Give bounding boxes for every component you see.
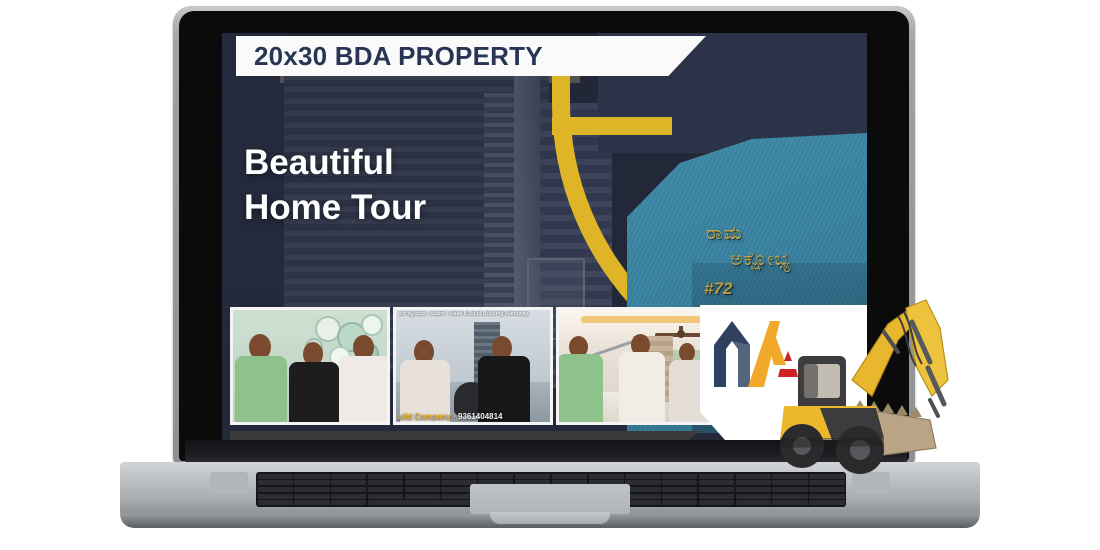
key [331,480,366,485]
key [736,500,771,505]
key [772,494,807,499]
person-body [235,356,287,422]
headline-line-1: Beautiful [244,141,544,186]
key [662,487,697,492]
key [478,474,513,479]
key [405,494,440,499]
key [736,480,771,485]
key [772,500,807,505]
laptop-front-notch [490,512,610,524]
ceiling-fan-hub [677,330,685,338]
key [625,474,660,479]
key [441,474,476,479]
person-body [557,354,603,422]
property-poster: ರಾಮ ಅಕ್ಷೋಭ್ಯ #72 20x30 BDA PROPERTY Beau… [222,33,867,442]
key [331,494,366,499]
key [589,474,624,479]
key [699,474,734,479]
key [552,474,587,479]
key [258,474,293,479]
key [405,474,440,479]
person-body [289,362,339,422]
speaker-grill-left [210,472,248,494]
headline-line-2: Home Tour [244,186,544,231]
key [699,480,734,485]
key [699,500,734,505]
key [699,494,734,499]
key [699,487,734,492]
person-body [619,352,665,422]
key [515,474,550,479]
thumbnail-row: ಮನೆ ಕಟ್ಟುವವರು - ಸೂಪರ್ - Make It Build Bu… [230,307,716,425]
page-title: 20x30 BDA PROPERTY [254,41,543,72]
key [258,487,293,492]
key [294,500,329,505]
sign-line-1: ರಾಮ [706,223,852,245]
key [809,500,844,505]
thumbnail-2[interactable]: ಮನೆ ಕಟ್ಟುವವರು - ಸೂಪರ್ - Make It Build Bu… [393,307,553,425]
key [331,500,366,505]
key [405,487,440,492]
thumbnail-overlay-bottom: uild Company - 9361404814 [398,412,548,421]
key [625,487,660,492]
key [625,494,660,499]
person-body [339,356,390,422]
key [662,494,697,499]
key [662,500,697,505]
key [772,487,807,492]
excavator-graphic [780,288,995,483]
key [294,494,329,499]
overlay-company-text: uild Company - [398,412,458,421]
key [736,474,771,479]
key [368,494,403,499]
key [331,474,366,479]
sign-line-2: ಅಕ್ಷೋಭ್ಯ [730,249,852,271]
key [258,480,293,485]
cove-light [581,316,701,323]
key [331,487,366,492]
key [809,494,844,499]
key [368,487,403,492]
laptop-trackpad[interactable] [470,484,630,514]
key [809,487,844,492]
key [258,494,293,499]
key [294,487,329,492]
overlay-phone-number: 9361404814 [458,412,503,421]
key [625,480,660,485]
key [294,474,329,479]
thumbnail-overlay-top: ಮನೆ ಕಟ್ಟುವವರು - ಸೂಪರ್ - Make It Build Bu… [398,311,548,318]
thumbnail-3[interactable] [556,307,716,425]
key [368,474,403,479]
poster-title-bar: 20x30 BDA PROPERTY [236,36,706,76]
key [736,494,771,499]
laptop-screen[interactable]: ರಾಮ ಅಕ್ಷೋಭ್ಯ #72 20x30 BDA PROPERTY Beau… [222,33,867,442]
key [368,480,403,485]
key [294,480,329,485]
key [662,474,697,479]
key [258,500,293,505]
keyboard-row [258,474,845,479]
screenshot-stage: ರಾಮ ಅಕ್ಷೋಭ್ಯ #72 20x30 BDA PROPERTY Beau… [0,0,1100,550]
wall-plate-icon [361,314,383,336]
key [662,480,697,485]
key [405,480,440,485]
thumbnail-1[interactable] [230,307,390,425]
poster-headline: Beautiful Home Tour [244,141,544,231]
key [736,487,771,492]
